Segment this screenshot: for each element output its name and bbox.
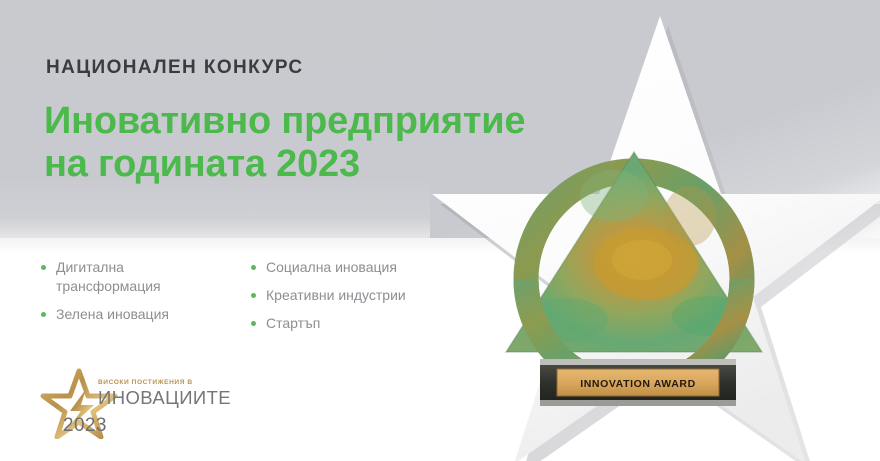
category-column-left: Дигитална трансформация Зелена иновация <box>38 258 230 333</box>
award-banner: INNOVATION AWARD НАЦИОНАЛЕН КОНКУРС Инов… <box>0 0 880 461</box>
award-logo-subtitle: ВИСОКИ ПОСТИЖЕНИЯ В <box>98 379 193 386</box>
award-logo-title: ИНОВАЦИИТЕ <box>98 387 231 409</box>
award-logo: 2023 ВИСОКИ ПОСТИЖЕНИЯ В ИНОВАЦИИТЕ <box>34 367 244 439</box>
page-title-line-2: на годината 2023 <box>44 143 525 186</box>
category-column-right: Социална иновация Креативни индустрии Ст… <box>248 258 478 333</box>
list-item: Социална иновация <box>248 258 478 277</box>
page-title-line-1: Иновативно предприятие <box>44 100 525 142</box>
list-item: Креативни индустрии <box>248 286 478 305</box>
page-title: Иновативно предприятие на годината 2023 <box>44 100 525 186</box>
category-list: Дигитална трансформация Зелена иновация … <box>38 258 478 333</box>
plaque-label: INNOVATION AWARD <box>557 378 719 390</box>
eyebrow-label: НАЦИОНАЛЕН КОНКУРС <box>46 57 304 79</box>
list-item: Дигитална трансформация <box>38 258 230 296</box>
award-logo-year: 2023 <box>63 415 107 437</box>
list-item: Зелена иновация <box>38 305 230 324</box>
list-item: Стартъп <box>248 314 478 333</box>
